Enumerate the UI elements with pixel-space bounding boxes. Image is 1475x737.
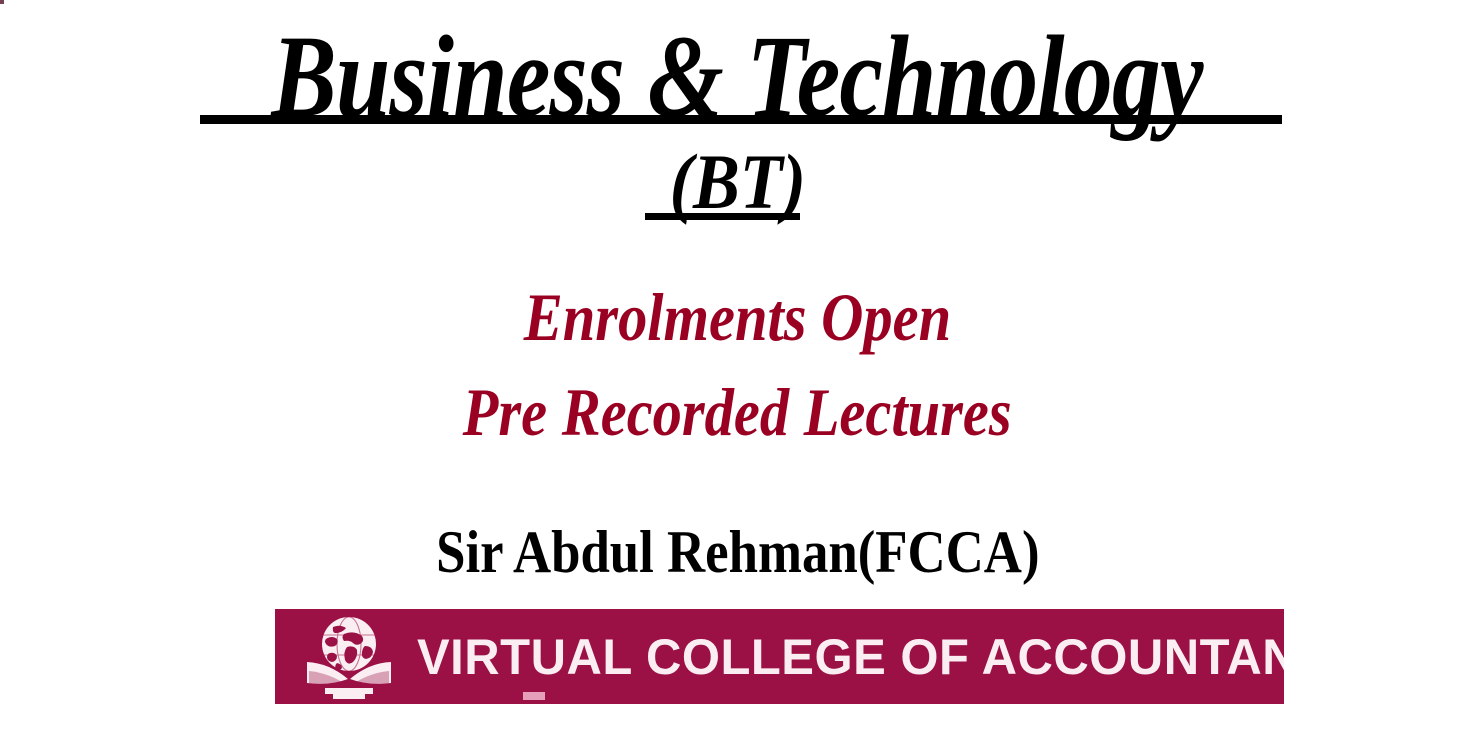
promo-line-enrolments-text: Enrolments Open [524,283,951,351]
promo-line-lectures-text: Pre Recorded Lectures [463,378,1012,446]
subtitle-underline [645,213,800,220]
promo-line-lectures: Pre Recorded Lectures [0,378,1475,446]
page-subtitle: (BT) [669,143,805,221]
main-title-underline [200,115,1282,124]
promo-line-enrolments: Enrolments Open [0,283,1475,351]
presenter-block: Sir Abdul Rehman(FCCA) [0,522,1475,582]
subtitle-block: (BT) [0,143,1475,221]
slide-canvas: Business & Technology (BT) Enrolments Op… [0,0,1475,737]
presenter-name: Sir Abdul Rehman(FCCA) [436,522,1039,582]
organization-name: VIRTUAL COLLEGE OF ACCOUNTANCY [417,632,1284,682]
corner-artifact [0,0,4,4]
banner-tagline-remnant [523,692,545,700]
organization-banner: VIRTUAL COLLEGE OF ACCOUNTANCY [275,609,1284,704]
globe-on-open-book-icon [303,613,395,701]
